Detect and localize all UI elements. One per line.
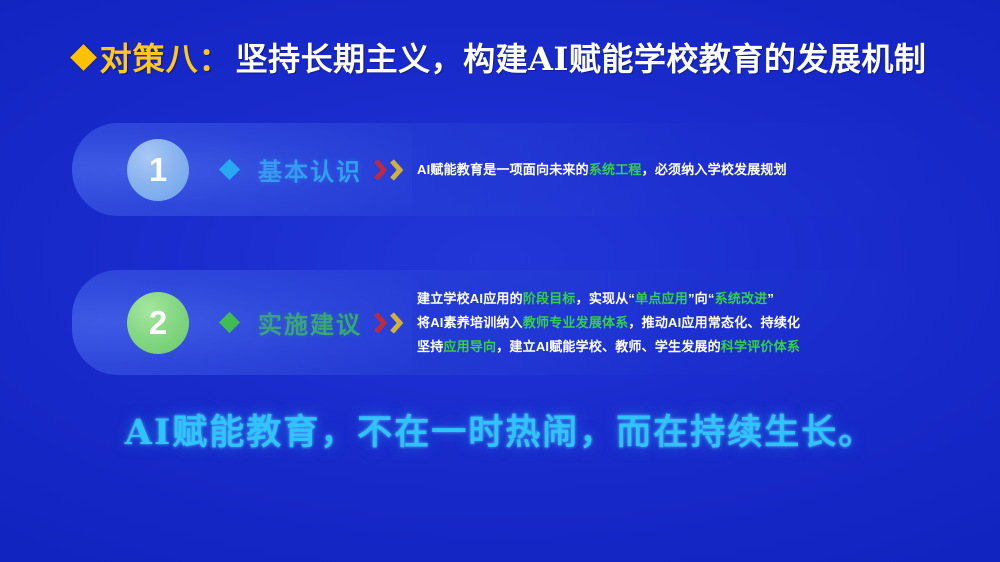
title-main: 坚持长期主义，构建AI赋能学校教育的发展机制 (236, 34, 927, 80)
body-text: 将AI素养培训纳入 (417, 315, 523, 330)
body-text: ，实现从“ (576, 291, 636, 306)
chevron-right-red-icon (373, 157, 388, 183)
card-2-body: 建立学校AI应用的阶段目标，实现从“单点应用”向“系统改进” 将AI素养培训纳入… (417, 287, 800, 359)
highlighted-text: 应用导向 (443, 339, 496, 354)
card-2-line-2: 将AI素养培训纳入教师专业发展体系，推动AI应用常态化、持续化 (417, 311, 800, 335)
body-text: 建立学校AI应用的 (417, 291, 523, 306)
chevron-right-gold-icon (389, 310, 404, 336)
body-text: ” (767, 291, 774, 306)
card-1-number-badge: 1 (127, 139, 189, 201)
highlighted-text: 单点应用 (635, 291, 688, 306)
slide-root: 对策八： 坚持长期主义，构建AI赋能学校教育的发展机制 1 基本认识 AI赋能教… (0, 0, 1000, 562)
card-1-diamond-icon (219, 159, 240, 180)
card-1-line-1: AI赋能教育是一项面向未来的系统工程，必须纳入学校发展规划 (417, 158, 787, 182)
card-2-number: 2 (149, 304, 167, 342)
chevron-right-red-icon (373, 310, 388, 336)
card-2-chevrons (373, 310, 404, 336)
card-2-label: 实施建议 (258, 305, 362, 340)
card-2-number-badge: 2 (127, 292, 189, 354)
highlighted-text: 系统改进 (715, 291, 768, 306)
chevron-right-gold-icon (389, 157, 404, 183)
highlighted-text: 阶段目标 (523, 291, 576, 306)
card-2-line-1: 建立学校AI应用的阶段目标，实现从“单点应用”向“系统改进” (417, 287, 800, 311)
highlighted-text: 教师专业发展体系 (523, 315, 629, 330)
highlighted-text: 科学评价体系 (721, 339, 800, 354)
slide-title: 对策八： 坚持长期主义，构建AI赋能学校教育的发展机制 (0, 34, 1000, 80)
highlighted-text: 系统工程 (589, 162, 642, 177)
card-1-label: 基本认识 (258, 152, 362, 187)
title-diamond-icon (70, 44, 97, 71)
body-text: ”向“ (688, 291, 715, 306)
body-text: 坚持 (417, 339, 443, 354)
card-1-body: AI赋能教育是一项面向未来的系统工程，必须纳入学校发展规划 (417, 158, 787, 182)
body-text: ，必须纳入学校发展规划 (642, 162, 787, 177)
card-2-line-3: 坚持应用导向，建立AI赋能学校、教师、学生发展的科学评价体系 (417, 335, 800, 359)
body-text: AI赋能教育是一项面向未来的 (417, 162, 589, 177)
body-text: ，建立AI赋能学校、教师、学生发展的 (496, 339, 721, 354)
slide-tagline: AI赋能教育，不在一时热闹，而在持续生长。 (0, 404, 1000, 455)
card-1-number: 1 (149, 151, 167, 189)
body-text: ，推动AI应用常态化、持续化 (628, 315, 800, 330)
content-card-2[interactable]: 2 实施建议 建立学校AI应用的阶段目标，实现从“单点应用”向“系统改进” 将A… (72, 270, 924, 375)
card-1-chevrons (373, 157, 404, 183)
card-2-diamond-icon (219, 312, 240, 333)
title-prefix: 对策八： (100, 34, 232, 80)
content-card-1[interactable]: 1 基本认识 AI赋能教育是一项面向未来的系统工程，必须纳入学校发展规划 (72, 123, 924, 216)
